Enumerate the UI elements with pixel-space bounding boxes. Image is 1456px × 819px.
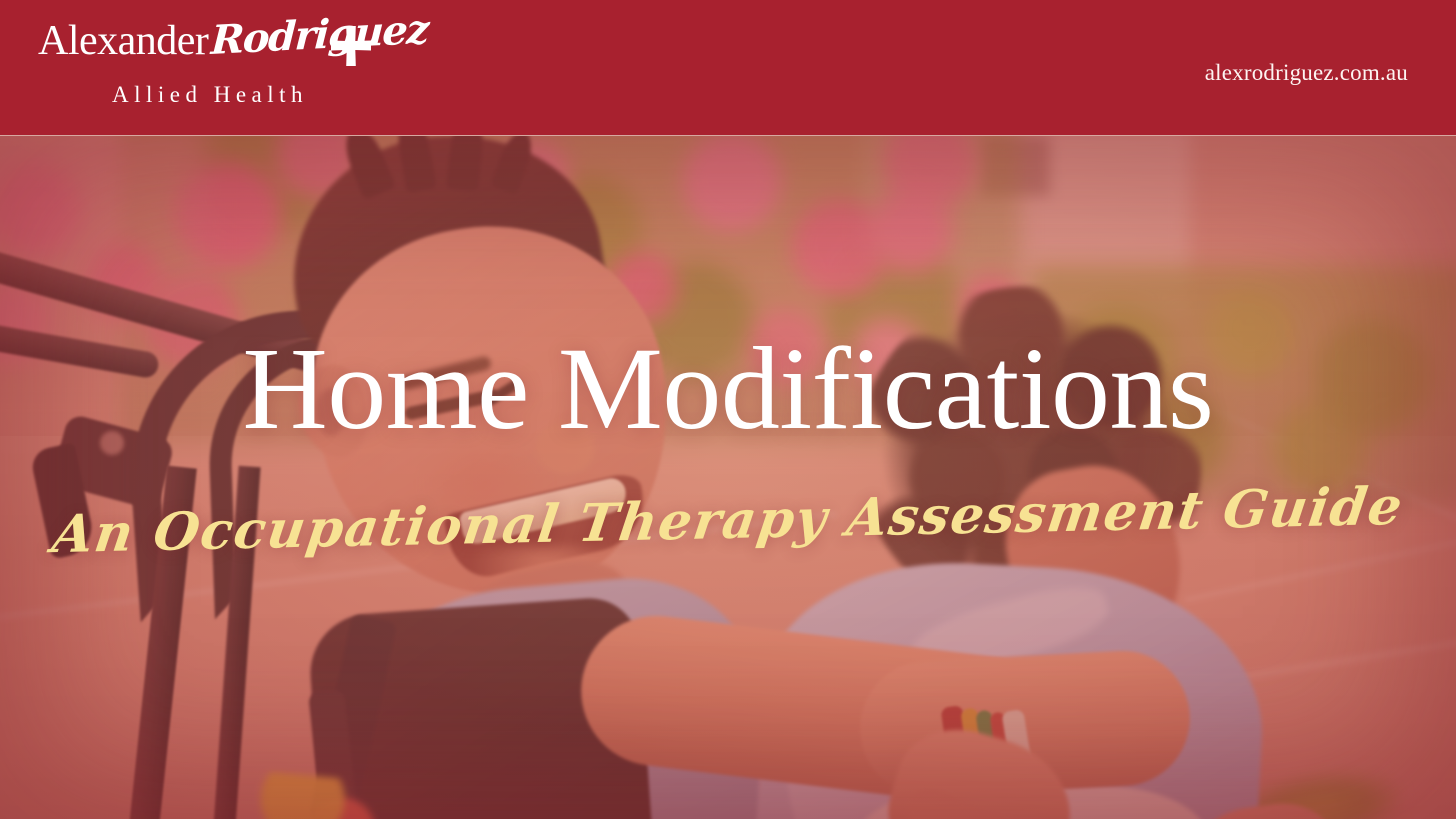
logo-primary-name: Alexander (38, 20, 208, 62)
brand-header: Alexander Rodriguez Allied Health alexro… (0, 0, 1456, 136)
medical-cross-icon (329, 24, 373, 68)
hero-photo (0, 136, 1456, 819)
logo-tagline: Allied Health (112, 82, 308, 107)
logo-tagline-row: Allied Health (38, 82, 368, 108)
photo-vignette (0, 136, 1456, 819)
brand-logo[interactable]: Alexander Rodriguez Allied Health (38, 20, 368, 120)
logo-wordmark: Alexander Rodriguez (38, 20, 368, 76)
website-url[interactable]: alexrodriguez.com.au (1205, 60, 1408, 86)
logo-script-name: Rodriguez (210, 10, 429, 61)
presentation-slide: Home Modifications An Occupational Thera… (0, 0, 1456, 819)
